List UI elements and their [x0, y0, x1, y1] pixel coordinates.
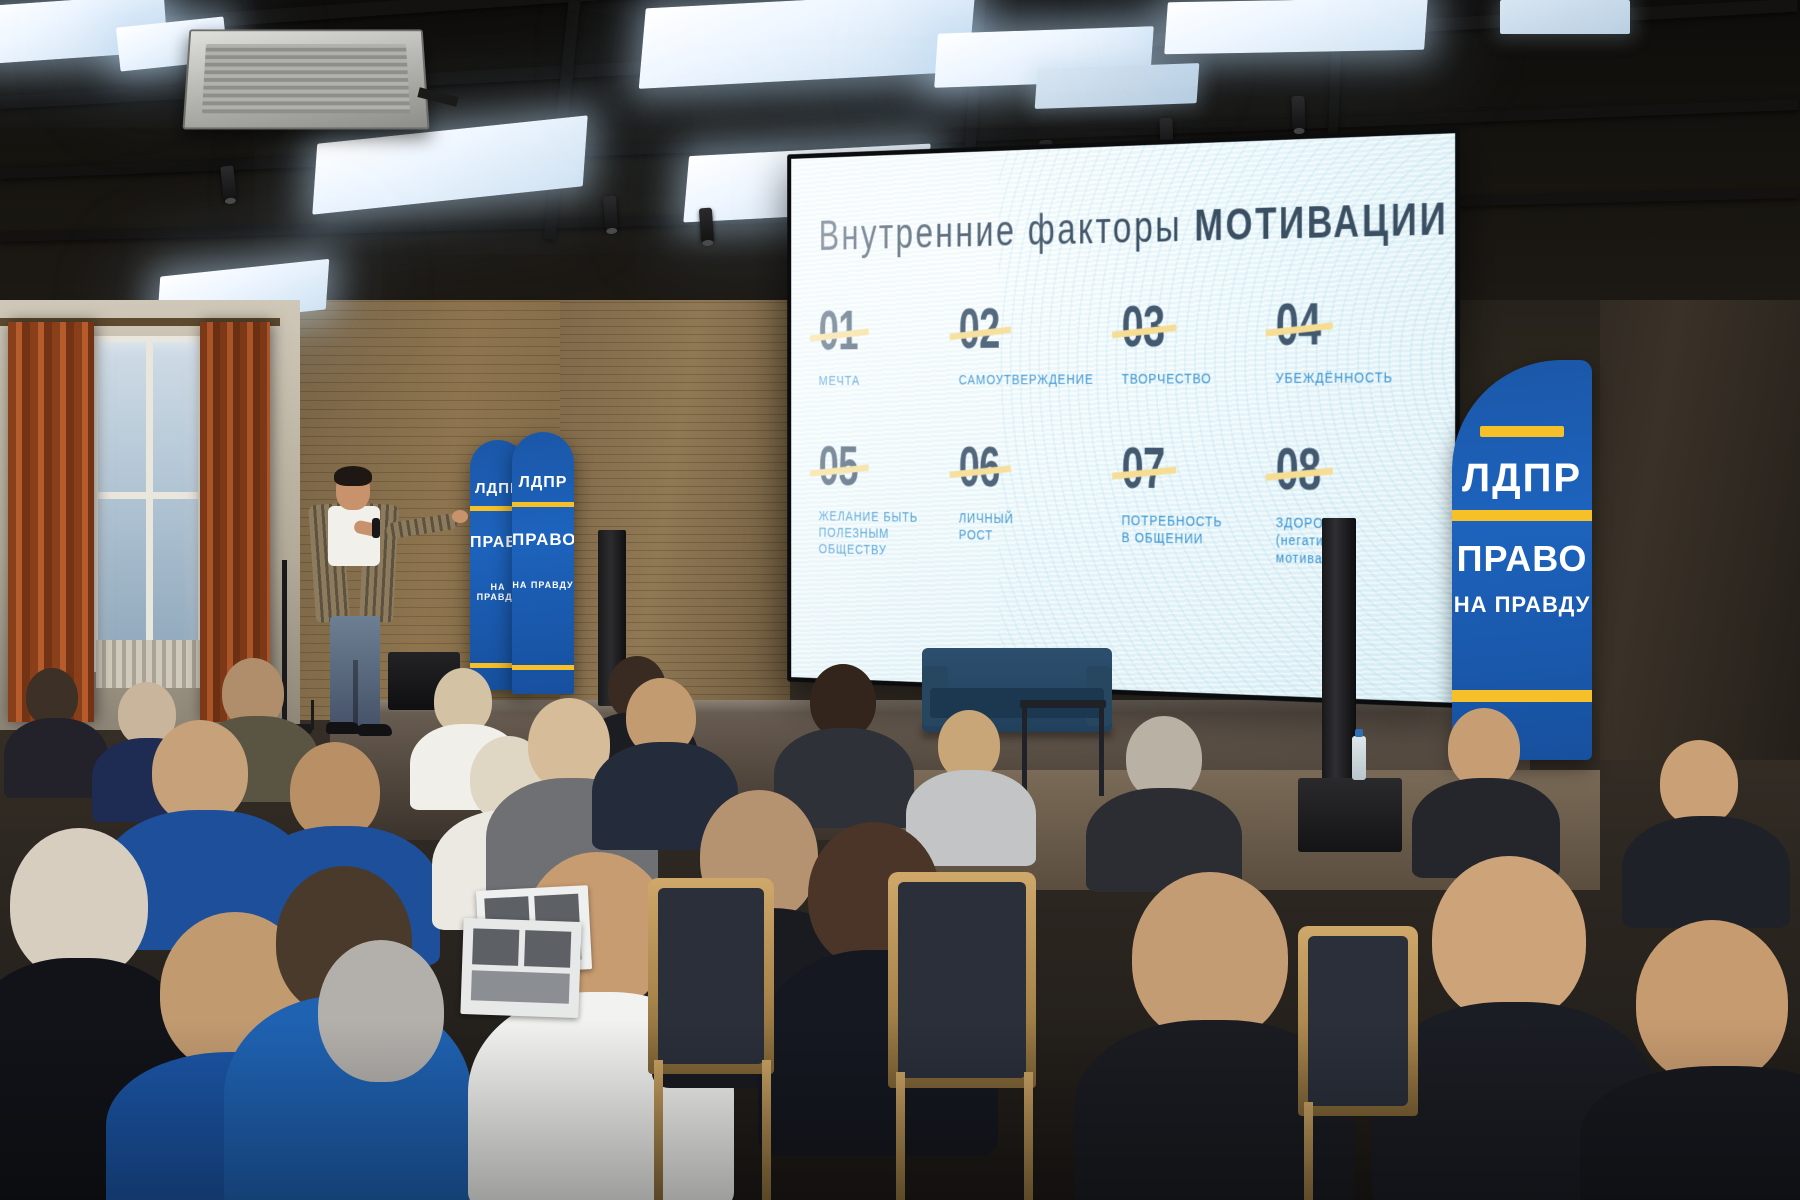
slide-item-number: 03: [1122, 298, 1165, 356]
banner-line-3: НА ПРАВДУ: [1452, 592, 1592, 618]
slide-item-label: ЛИЧНЫЙ РОСТ: [959, 510, 1094, 546]
chair-back-pad: [1308, 936, 1408, 1106]
audience-head: [1660, 740, 1738, 826]
slide-item-number: 01: [819, 303, 858, 358]
audience-head: [152, 720, 248, 824]
ceiling-light-panel: [1500, 0, 1630, 34]
slide-item: 05 ЖЕЛАНИЕ БЫТЬ ПОЛЕЗНЫМ ОБЩЕСТВУ: [819, 439, 954, 560]
banner-line-1: ЛДПР: [512, 474, 574, 492]
ceiling-spotlight: [699, 208, 714, 243]
chair-leg: [654, 1060, 663, 1200]
chair-leg: [762, 1060, 771, 1200]
ceiling-spotlight: [1291, 96, 1305, 130]
slide-item-label: УБЕЖДЁННОСТЬ: [1275, 369, 1408, 387]
presenter-hand: [452, 510, 468, 523]
audience-body: [1622, 816, 1790, 928]
handout-photo: [471, 970, 570, 1003]
slide-item-label: ЖЕЛАНИЕ БЫТЬ ПОЛЕЗНЫМ ОБЩЕСТВУ: [819, 508, 935, 560]
audience-head-foreground: [1636, 920, 1788, 1084]
banner-line-2: ПРАВО: [512, 530, 574, 550]
slide-item-number: 02: [959, 301, 1000, 358]
photo-scene: Внутренние факторы МОТИВАЦИИ 01 МЕЧТА 02: [0, 0, 1800, 1200]
banner-stripe: [1452, 510, 1592, 521]
slide-item: 07 ПОТРЕБНОСТЬ В ОБЩЕНИИ: [1122, 440, 1270, 567]
banner-line-1: ЛДПР: [1452, 456, 1592, 501]
slide-item: 02 САМОУТВЕРЖДЕНИЕ: [959, 299, 1116, 389]
slide-item: 03 ТВОРЧЕСТВО: [1122, 296, 1270, 388]
slide-item-number: 07: [1122, 440, 1165, 498]
ac-vent: [202, 44, 410, 113]
audience-chair: [1298, 926, 1418, 1116]
slide-item-number: 04: [1275, 295, 1320, 354]
handout-photo: [472, 928, 519, 966]
chair-leg: [1024, 1072, 1033, 1200]
slide-item-label: ТВОРЧЕСТВО: [1122, 370, 1249, 388]
slide-title-regular: Внутренние факторы: [819, 200, 1195, 259]
audience-chair: [888, 872, 1036, 1088]
slide-item: 04 УБЕЖДЁННОСТЬ: [1275, 294, 1430, 388]
handout-paper[interactable]: [460, 918, 581, 1018]
ceiling-light-panel: [1164, 0, 1428, 54]
slide-item-label: ПОТРЕБНОСТЬ В ОБЩЕНИИ: [1122, 512, 1249, 549]
audience-head-foreground: [1432, 856, 1586, 1022]
audience-head-foreground: [1132, 872, 1288, 1042]
window-mullion: [146, 342, 153, 666]
chair-leg: [1304, 1102, 1313, 1200]
audience-head-foreground: [318, 940, 444, 1082]
chair-back-pad: [658, 888, 764, 1064]
banner-line-3: НА ПРАВДУ: [512, 580, 574, 590]
ceiling-spotlight: [603, 196, 618, 231]
air-conditioner: [182, 29, 429, 129]
slide-item-number: 06: [959, 439, 1000, 495]
banner-line-2: ПРАВО: [1452, 538, 1592, 580]
chair-leg: [896, 1072, 905, 1200]
slide-item: 01 МЕЧТА: [819, 302, 954, 390]
banner-stripe: [1480, 426, 1564, 437]
chair-back-pad: [898, 882, 1026, 1078]
audience-area: [0, 620, 1800, 1200]
slide-item-label: САМОУТВЕРЖДЕНИЕ: [959, 371, 1094, 389]
slide-item: 06 ЛИЧНЫЙ РОСТ: [959, 439, 1116, 563]
audience-chair: [648, 878, 774, 1074]
slide-title: Внутренние факторы МОТИВАЦИИ: [819, 195, 1320, 260]
slide-item-number: 08: [1275, 440, 1320, 499]
microphone-icon: [372, 518, 380, 538]
audience-head: [1448, 708, 1520, 788]
presenter-hair: [334, 466, 372, 486]
handout-photo: [524, 930, 571, 968]
ceiling-light-panel: [1035, 63, 1200, 109]
slide-title-bold: МОТИВАЦИИ: [1194, 192, 1448, 250]
slide-item-label: МЕЧТА: [819, 372, 935, 389]
audience-head: [810, 664, 876, 738]
banner-stripe: [512, 502, 574, 507]
slide-item-number: 05: [819, 439, 858, 494]
